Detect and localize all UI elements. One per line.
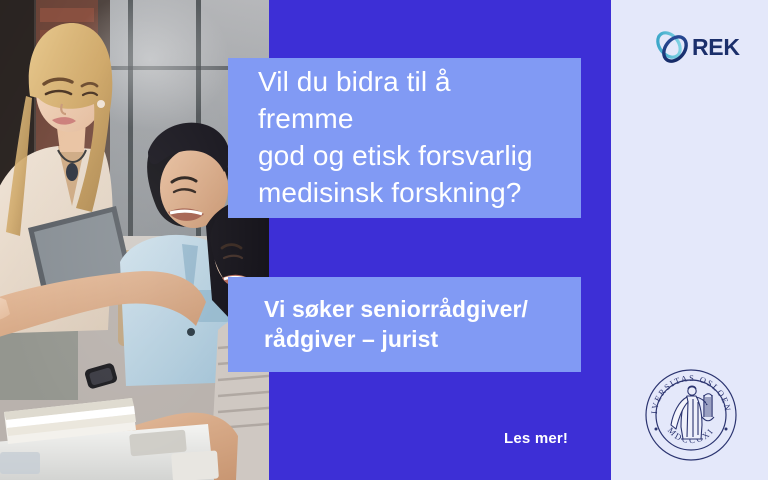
headline-text: Vil du bidra til å fremme god og etisk f… xyxy=(258,64,551,212)
recruitment-banner: Vil du bidra til å fremme god og etisk f… xyxy=(0,0,768,480)
job-title-line-1: Vi søker seniorrådgiver/ xyxy=(264,296,528,322)
rek-interlocking-ellipses-icon xyxy=(650,25,694,69)
read-more-link[interactable]: Les mer! xyxy=(504,430,568,447)
rek-logo[interactable]: REK xyxy=(650,24,742,70)
headline-line-2: god og etisk forsvarlig xyxy=(258,140,533,171)
rek-wordmark: REK xyxy=(692,34,740,61)
job-title-line-2: rådgiver – jurist xyxy=(264,326,438,352)
job-title-text: Vi søker seniorrådgiver/ rådgiver – juri… xyxy=(264,295,528,355)
uio-seal-icon: UNIVERSITAS OSLOENSIS MDCCCXI xyxy=(643,367,739,463)
headline-line-1: Vil du bidra til å fremme xyxy=(258,66,451,134)
job-title-card: Vi søker seniorrådgiver/ rådgiver – juri… xyxy=(228,277,581,372)
headline-card: Vil du bidra til å fremme god og etisk f… xyxy=(228,58,581,218)
uio-seal: UNIVERSITAS OSLOENSIS MDCCCXI xyxy=(643,367,739,463)
headline-line-3: medisinsk forskning? xyxy=(258,177,521,208)
